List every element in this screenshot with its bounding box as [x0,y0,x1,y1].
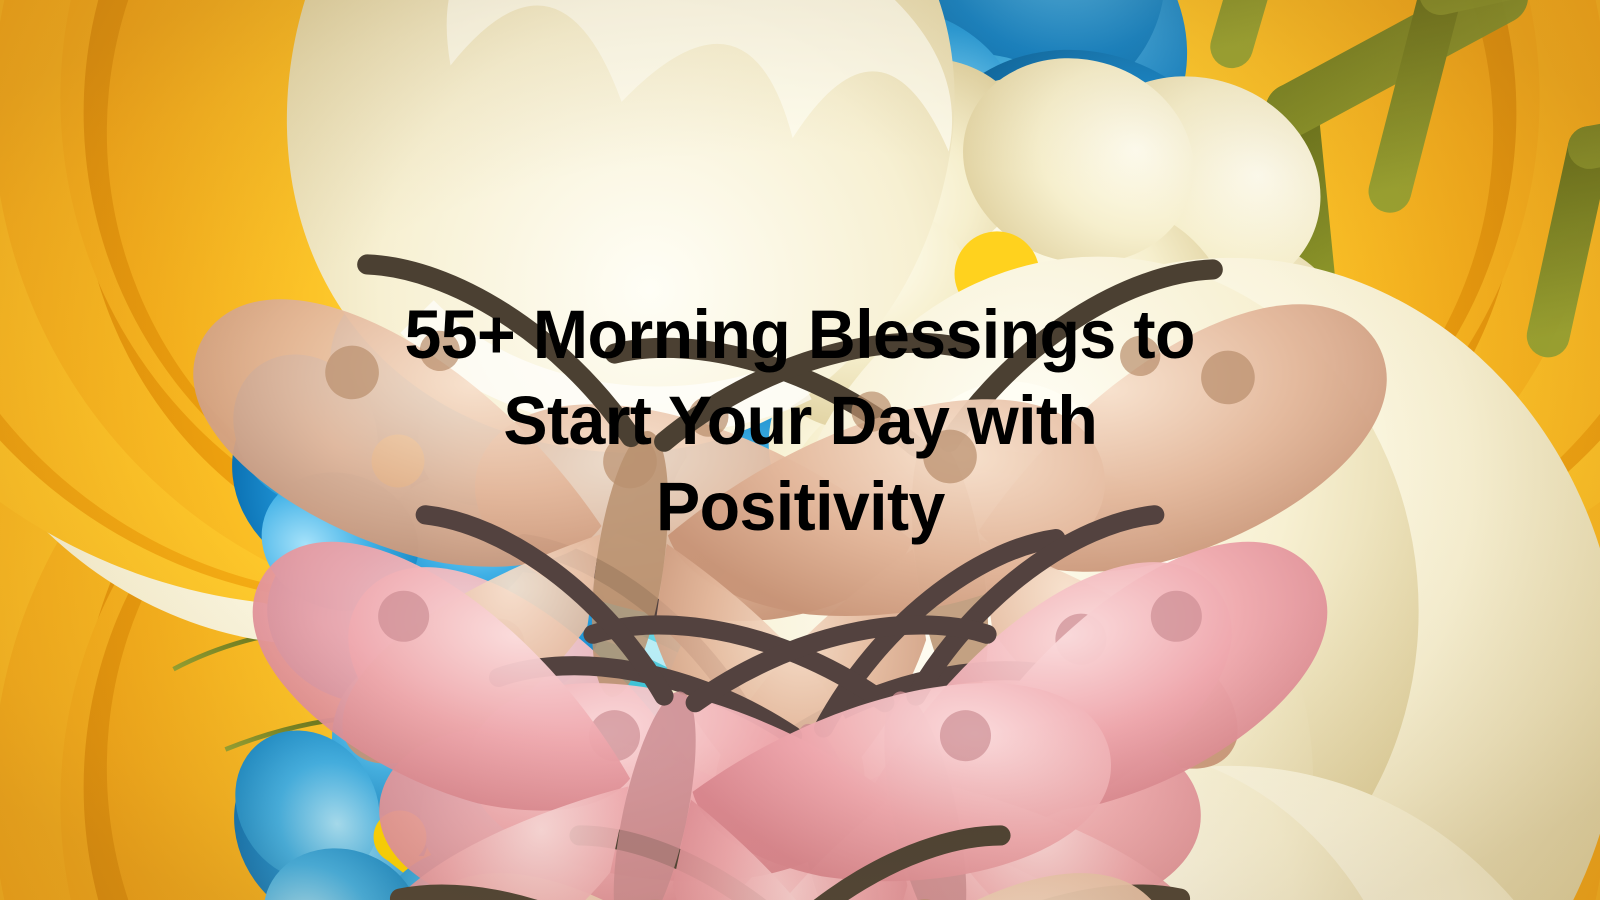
title-line-3: Positivity [656,464,945,550]
title-line-2: Start Your Day with [503,378,1097,464]
title-line-1: 55+ Morning Blessings to [405,292,1195,378]
banner-canvas: 55+ Morning Blessings to Start Your Day … [0,0,1600,900]
page-title: 55+ Morning Blessings to Start Your Day … [0,292,1600,550]
